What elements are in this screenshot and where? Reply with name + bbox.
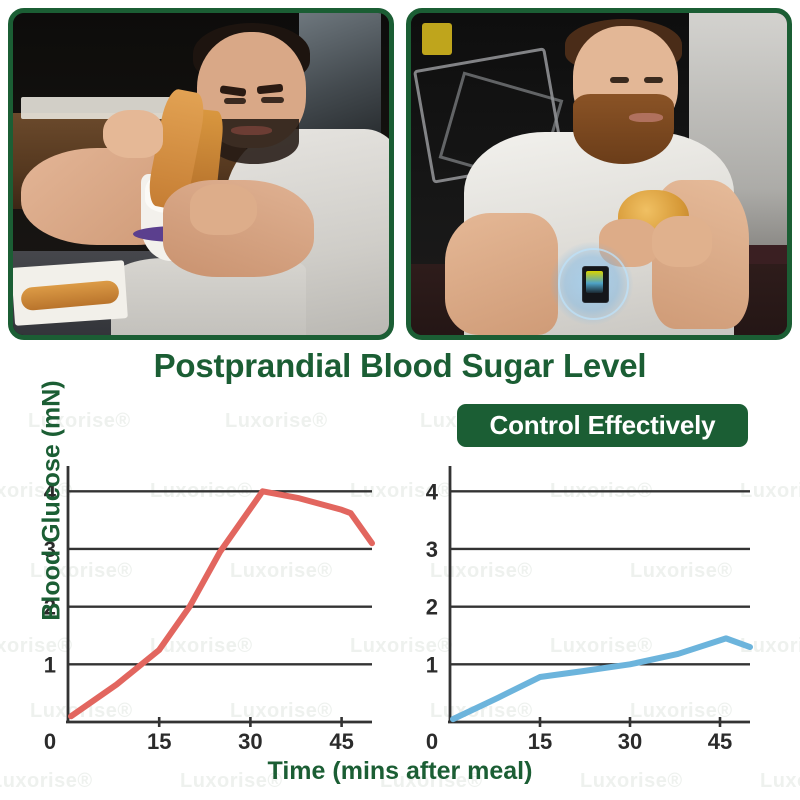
y-tick-label-4: 4 [426, 479, 439, 504]
charts-container: 01530451234 01530451234 [0, 452, 800, 800]
x-axis-title: Time (mins after meal) [0, 757, 800, 786]
data-line-without-control [71, 491, 372, 716]
x-tick-label-30: 30 [618, 729, 642, 754]
y-axis-title: Blood Glucose (mN) [38, 371, 67, 631]
y-tick-label-1: 1 [426, 652, 438, 677]
x-tick-label-45: 45 [329, 729, 353, 754]
photo-image-man-eating-churros-dessert [13, 13, 389, 335]
x-tick-label-0: 0 [44, 729, 56, 754]
x-tick-label-0: 0 [426, 729, 438, 754]
y-tick-label-2: 2 [426, 595, 438, 620]
y-tick-label-3: 3 [426, 537, 438, 562]
x-tick-label-15: 15 [528, 729, 552, 754]
photo-card-bearded-man-eating-burger-with-glowing-watch [406, 8, 792, 340]
y-tick-label-1: 1 [44, 652, 56, 677]
photo-image-bearded-man-eating-burger-with-glowing-watch [411, 13, 787, 335]
infographic-page: Luxorise® Luxorise® Luxorise® Luxorise® … [0, 0, 800, 800]
x-tick-label-15: 15 [147, 729, 171, 754]
data-line-with-control [453, 638, 750, 719]
photo-row [0, 0, 800, 340]
chart-with-control: 01530451234 [400, 452, 800, 800]
status-badge: Control Effectively [457, 404, 748, 447]
x-tick-label-30: 30 [238, 729, 262, 754]
x-tick-label-45: 45 [708, 729, 732, 754]
status-badge-label: Control Effectively [490, 410, 716, 441]
page-title: Postprandial Blood Sugar Level [0, 347, 800, 385]
photo-card-man-eating-churros-dessert [8, 8, 394, 340]
watermark-text: Luxorise® [225, 410, 328, 433]
